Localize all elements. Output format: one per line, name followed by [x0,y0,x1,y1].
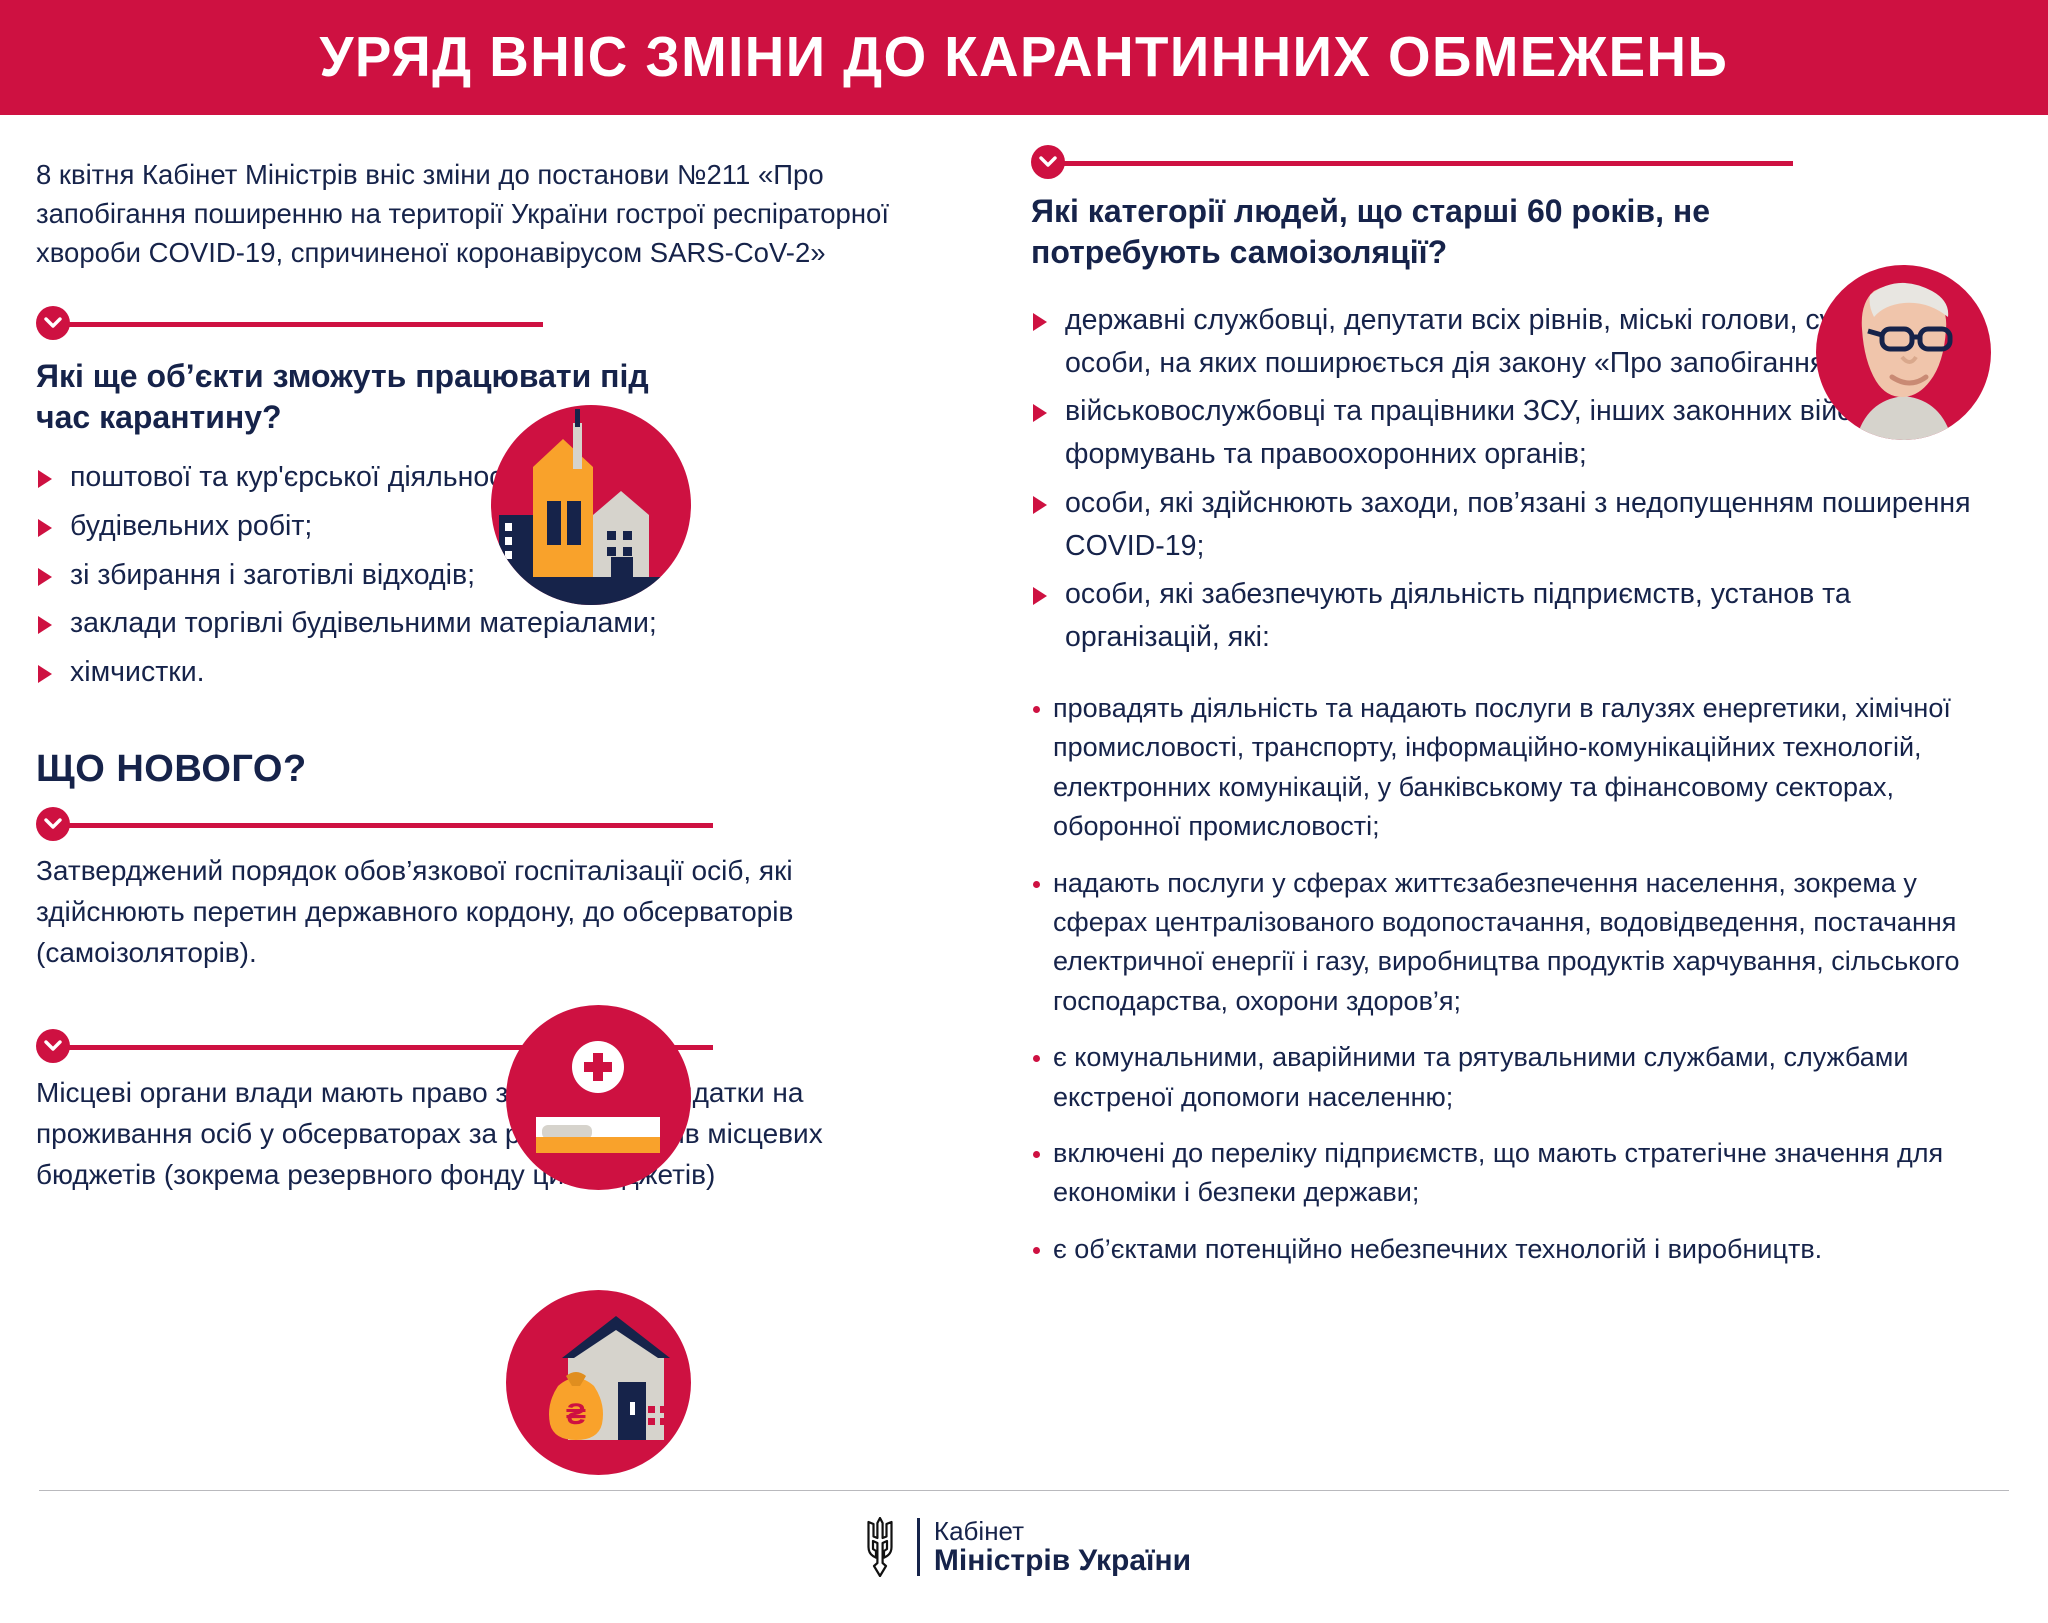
logo-line-1: Кабінет [934,1517,1191,1545]
new-item-paragraph-2: Місцеві органи влади мають право здійсню… [36,1073,906,1196]
hospital-bed-icon [506,1005,691,1190]
list-item: надають послуги у сферах життєзабезпечен… [1031,864,2011,1022]
chevron-down-icon [36,306,70,340]
logo-text: Кабінет Міністрів України [934,1517,1191,1577]
chevron-down-icon [1031,145,1065,179]
chevron-down-icon [36,1029,70,1063]
right-column: Які категорії людей, що старші 60 років,… [991,115,2011,1286]
divider-line [53,823,713,828]
divider-line [1048,161,1793,166]
list-item: хімчистки. [36,651,991,694]
house-money-icon: ₴ [506,1290,691,1475]
senior-man-icon [1816,265,1991,440]
trident-icon [857,1517,903,1577]
list-item: особи, які забезпечують діяльність підпр… [1031,573,2011,659]
divider-line [53,322,543,327]
svg-text:₴: ₴ [566,1398,586,1431]
list-item: є об’єктами потенційно небезпечних техно… [1031,1230,2011,1269]
cabinet-logo: Кабінет Міністрів України [857,1517,1191,1577]
logo-separator [917,1518,920,1576]
intro-paragraph: 8 квітня Кабінет Міністрів вніс зміни до… [36,155,936,272]
page-header: УРЯД ВНІС ЗМІНИ ДО КАРАНТИННИХ ОБМЕЖЕНЬ [0,0,2048,115]
section-title-whats-new: ЩО НОВОГО? [36,748,991,791]
list-item: є комунальними, аварійними та рятувальни… [1031,1038,2011,1117]
divider-left-1 [36,306,991,340]
list-item: заклади торгівлі будівельними матеріалам… [36,602,991,645]
list-item: провадять діяльність та надають послуги … [1031,689,2011,847]
list-item: включені до переліку підприємств, що маю… [1031,1134,2011,1213]
new-item-paragraph-1: Затверджений порядок обов’язкової госпіт… [36,851,906,974]
page-body: 8 квітня Кабінет Міністрів вніс зміни до… [0,115,2048,1286]
page-footer: Кабінет Міністрів України [0,1490,2048,1577]
factory-buildings-icon [491,405,691,605]
list-item: особи, які здійснюють заходи, пов’язані … [1031,482,2011,568]
chevron-down-icon [36,807,70,841]
left-column: 8 квітня Кабінет Міністрів вніс зміни до… [36,115,991,1286]
logo-line-2: Міністрів України [934,1545,1191,1577]
divider-right-1 [1031,145,2011,179]
footer-divider [39,1490,2009,1491]
right-sub-bullet-list: провадять діяльність та надають послуги … [1031,689,2011,1269]
page-title: УРЯД ВНІС ЗМІНИ ДО КАРАНТИННИХ ОБМЕЖЕНЬ [320,29,1729,86]
divider-left-2 [36,807,991,841]
right-question-heading: Які категорії людей, що старші 60 років,… [1031,191,1791,273]
